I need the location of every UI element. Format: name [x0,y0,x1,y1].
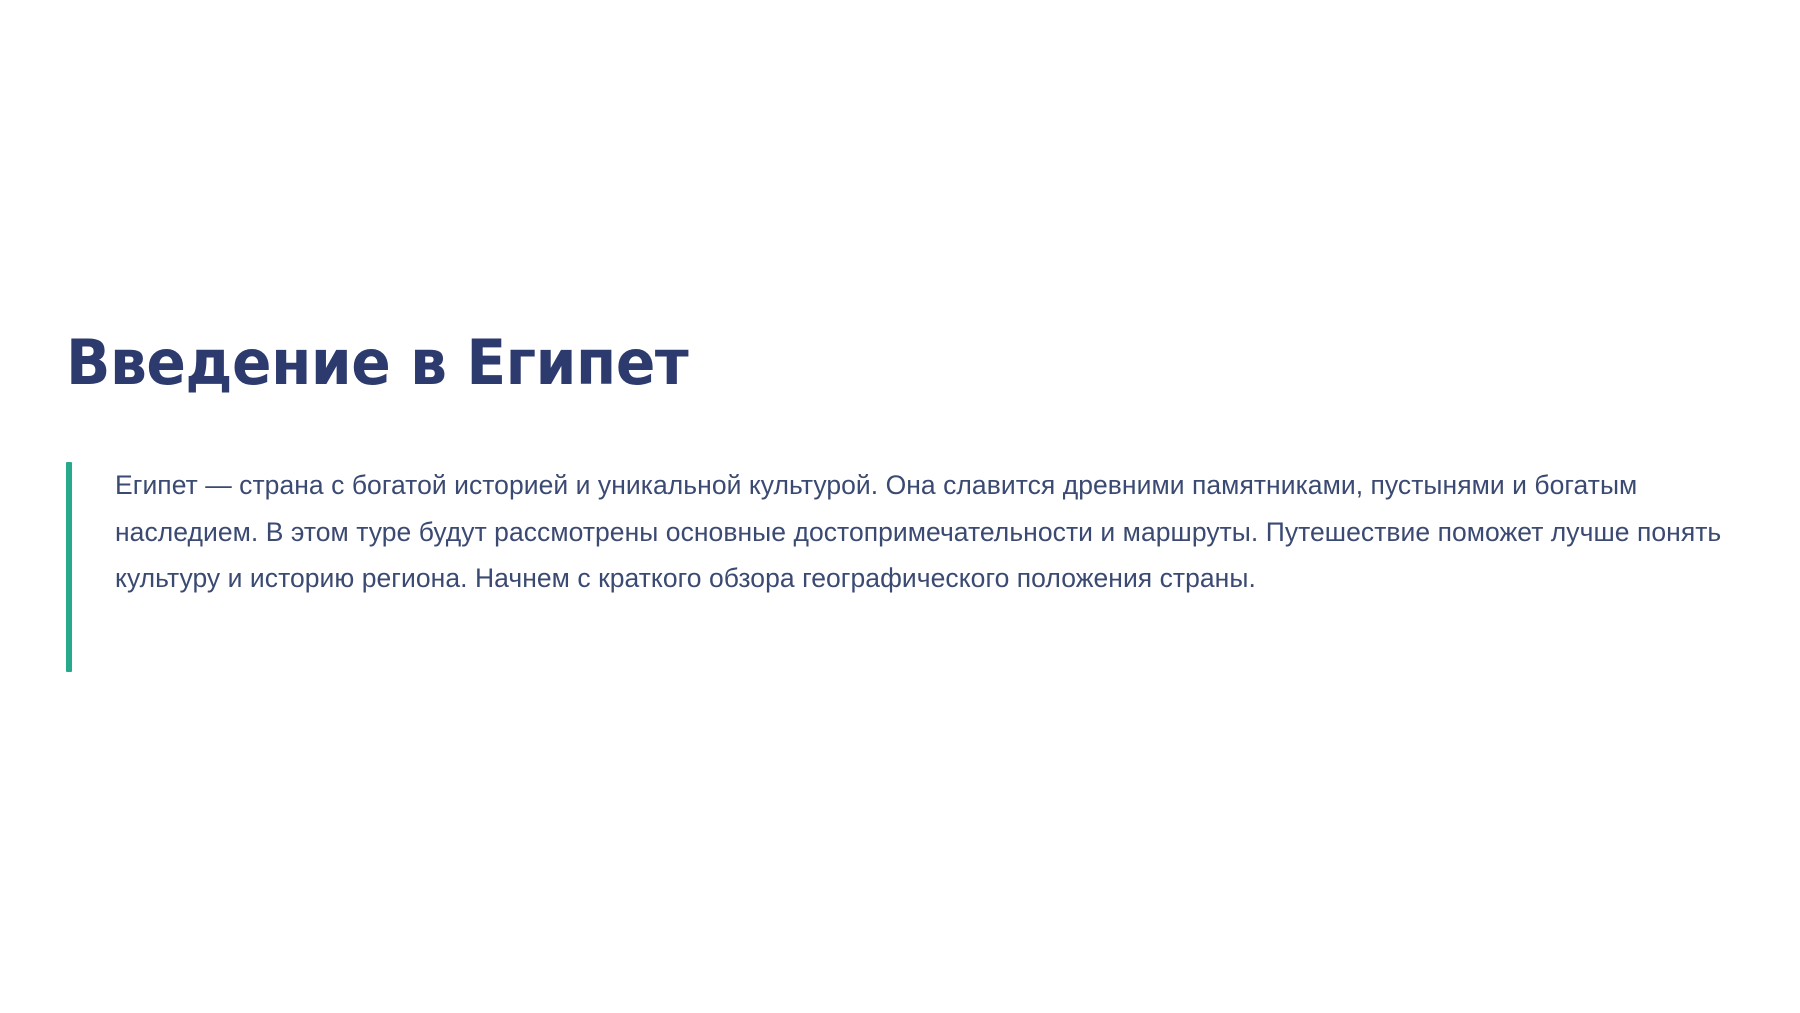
page-title: Введение в Египет [66,330,688,395]
body-paragraph: Египет — страна с богатой историей и уни… [115,462,1740,602]
accent-rule [66,462,72,672]
body-block: Египет — страна с богатой историей и уни… [66,462,1756,602]
slide-canvas: Введение в Египет Египет — страна с бога… [0,0,1800,1013]
